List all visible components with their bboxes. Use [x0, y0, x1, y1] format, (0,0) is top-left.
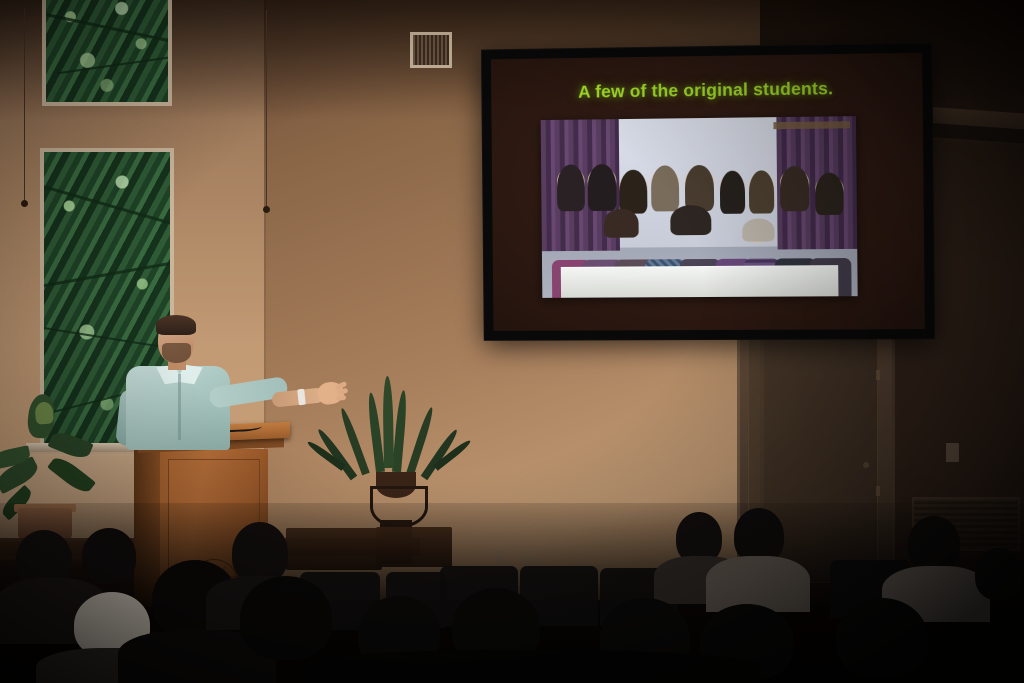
hanging-cord-center — [266, 10, 267, 210]
cord-weight-left — [21, 200, 28, 207]
projection-screen: A few of the original students. — [482, 44, 934, 340]
speaker-beard — [162, 343, 191, 363]
door-knob-icon[interactable] — [863, 462, 869, 468]
audience-head — [82, 528, 136, 584]
audience-head — [240, 576, 332, 660]
upper-window — [42, 0, 172, 106]
door-hinge-bottom — [876, 486, 880, 496]
audience-head — [836, 598, 928, 678]
audience-row-mass — [300, 650, 760, 683]
photo-curtain-rail — [773, 122, 849, 130]
light-switch-plate[interactable] — [946, 443, 959, 462]
wall-vent-icon — [410, 32, 452, 68]
door-hinge-top — [876, 370, 880, 380]
photo-person-seated — [743, 221, 775, 271]
tree-foliage-upper — [46, 0, 168, 102]
speaker-shirt-placket — [178, 374, 181, 440]
screen-model-label — [549, 334, 566, 337]
hanging-cord-left — [24, 8, 25, 204]
photo-table — [561, 265, 839, 298]
speaker-person — [112, 316, 282, 446]
photo-person — [557, 168, 586, 268]
speaker-hair — [156, 315, 196, 335]
photo-person — [815, 176, 845, 266]
photo-person-seated — [604, 212, 639, 273]
screen-brand-label — [519, 333, 543, 338]
cord-weight-center — [263, 206, 270, 213]
slide-group-photo — [541, 116, 858, 298]
presentation-photo: A few of the original students. — [0, 0, 1024, 683]
slide: A few of the original students. — [491, 53, 925, 331]
slide-title: A few of the original students. — [491, 77, 923, 104]
audience-shoulders — [706, 556, 810, 612]
audience-head — [975, 548, 1023, 600]
audience-head — [908, 516, 960, 572]
photo-person-seated — [670, 207, 712, 272]
audience-head — [232, 522, 288, 584]
photo-person — [780, 169, 810, 266]
